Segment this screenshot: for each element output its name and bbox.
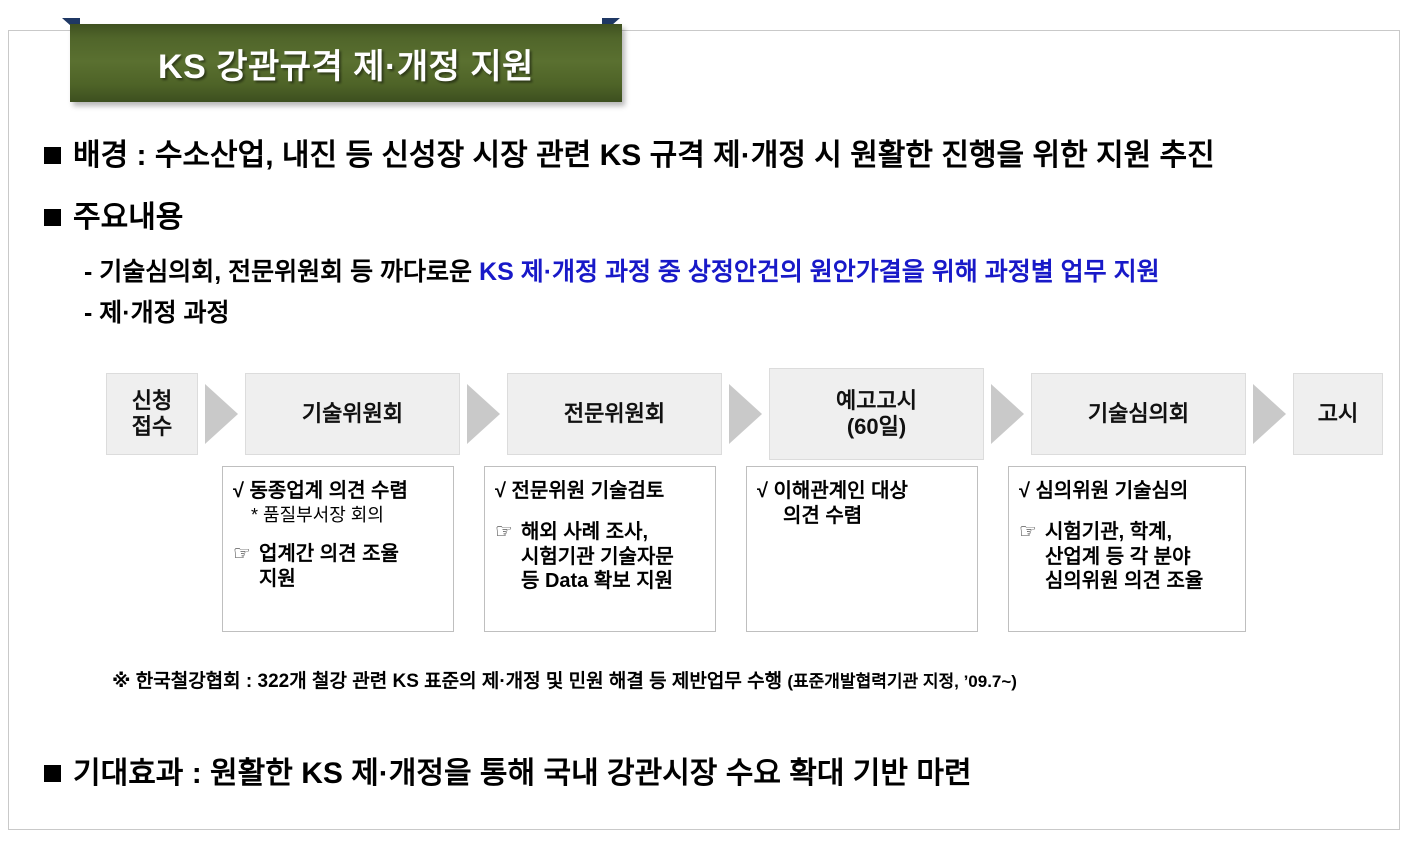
title-banner: KS 강관규격 제·개정 지원 [70,24,622,102]
detail-hand-line-3: 등 Data 확보 지원 [495,569,709,594]
detail-check-line-2: 의견 수렴 [757,504,971,529]
sub-bullet-process-support: - 기술심의회, 전문위원회 등 까다로운 KS 제·개정 과정 중 상정안건의… [84,252,1160,288]
detail-check-line: √ 동종업계 의견 수렴 [233,479,447,504]
detail-hand-line-1: ☞업계간 의견 조율 [233,542,447,567]
detail-hand-line-1: ☞해외 사례 조사, [495,520,709,545]
flow-arrow-3-icon [729,384,762,444]
bullet-background-text: 배경 : 수소산업, 내진 등 신성장 시장 관련 KS 규격 제·개정 시 원… [73,130,1215,174]
page-title: KS 강관규격 제·개정 지원 [158,39,534,88]
square-bullet-icon [44,209,61,226]
sub-bullet-process-label: - 제·개정 과정 [84,293,230,329]
detail-check-line: √ 이해관계인 대상 [757,479,971,504]
sub-bullet-line1-prefix: - 기술심의회, 전문위원회 등 까다로운 [84,258,479,286]
flow-arrow-2-icon [467,384,500,444]
hand-pointer-icon: ☞ [233,542,259,567]
detail-check-line: √ 심의위원 기술심의 [1019,479,1239,504]
detail-hand-line-2: 산업계 등 각 분야 [1019,545,1239,570]
detail-hand-text-1: 시험기관, 학계, [1045,521,1172,543]
detail-hand-line-1: ☞시험기관, 학계, [1019,520,1239,545]
detail-box-group: √ 동종업계 의견 수렴 * 품질부서장 회의 ☞업계간 의견 조율 지원 √ … [106,466,1246,632]
title-ribbon: KS 강관규격 제·개정 지원 [22,18,630,104]
flow-stage-application-line2: 접수 [132,414,172,440]
slide: KS 강관규격 제·개정 지원 배경 : 수소산업, 내진 등 신성장 시장 관… [0,0,1409,861]
footnote: ※ 한국철강협회 : 322개 철강 관련 KS 표준의 제·개정 및 민원 해… [112,666,1017,693]
hand-pointer-icon: ☞ [495,520,521,545]
detail-hand-line-2: 시험기관 기술자문 [495,545,709,570]
bullet-expected-effect-text: 기대효과 : 원활한 KS 제·개정을 통해 국내 강관시장 수요 확대 기반 … [73,748,972,792]
sub-bullet-line1-highlight: KS 제·개정 과정 중 상정안건의 원안가결을 위해 과정별 업무 지원 [479,258,1160,286]
bullet-expected-effect: 기대효과 : 원활한 KS 제·개정을 통해 국내 강관시장 수요 확대 기반 … [44,748,972,792]
detail-hand-text-1: 업계간 의견 조율 [259,543,399,565]
flow-arrow-5-icon [1253,384,1286,444]
flow-stage-public-notice-line1: 예고고시 [836,388,917,414]
bullet-main-content-text: 주요내용 [73,192,183,236]
square-bullet-icon [44,765,61,782]
flow-stage-technical-committee: 기술위원회 [245,373,460,455]
square-bullet-icon [44,147,61,164]
footnote-marker-icon: ※ [112,671,130,692]
flow-stage-deliberation-committee: 기술심의회 [1031,373,1246,455]
flow-stage-application-line1: 신청 [132,388,172,414]
flow-stage-public-notice: 예고고시 (60일) [769,368,984,460]
flow-arrow-1-icon [205,384,238,444]
detail-box-public-notice: √ 이해관계인 대상 의견 수렴 [746,466,978,632]
detail-box-technical-committee: √ 동종업계 의견 수렴 * 품질부서장 회의 ☞업계간 의견 조율 지원 [222,466,454,632]
flow-stage-notification: 고시 [1293,373,1383,455]
flow-arrow-4-icon [991,384,1024,444]
bullet-main-content: 주요내용 [44,192,183,236]
detail-hand-text-1: 해외 사례 조사, [521,521,648,543]
detail-hand-line-2: 지원 [233,567,447,592]
footnote-tail: (표준개발협력기관 지정, ’09.7~) [787,672,1017,691]
detail-box-expert-committee: √ 전문위원 기술검토 ☞해외 사례 조사, 시험기관 기술자문 등 Data … [484,466,716,632]
hand-pointer-icon: ☞ [1019,520,1045,545]
process-flow: 신청 접수 기술위원회 전문위원회 예고고시 (60일) 기술심의회 고시 [106,368,1383,460]
flow-stage-application: 신청 접수 [106,373,198,455]
flow-stage-public-notice-line2: (60일) [836,414,917,440]
flow-stage-expert-committee: 전문위원회 [507,373,722,455]
footnote-text: 한국철강협회 : 322개 철강 관련 KS 표준의 제·개정 및 민원 해결 … [136,671,782,692]
detail-hand-line-3: 심의위원 의견 조율 [1019,569,1239,594]
detail-note-line: * 품질부서장 회의 [233,504,447,526]
detail-check-line: √ 전문위원 기술검토 [495,479,709,504]
bullet-background: 배경 : 수소산업, 내진 등 신성장 시장 관련 KS 규격 제·개정 시 원… [44,130,1215,174]
detail-box-deliberation-committee: √ 심의위원 기술심의 ☞시험기관, 학계, 산업계 등 각 분야 심의위원 의… [1008,466,1246,632]
